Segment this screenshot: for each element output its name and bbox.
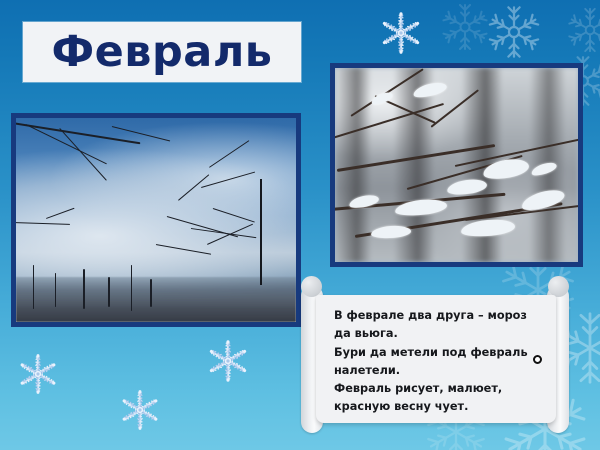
- photo-winter-sky: [11, 113, 301, 327]
- photo-snowy-branches: [330, 63, 583, 267]
- scroll-knob-left: [301, 276, 322, 297]
- crystal-snowflake-bottom-left: [15, 351, 61, 397]
- scroll-dot-icon: [533, 355, 542, 364]
- page-title: Февраль: [23, 22, 301, 82]
- crystal-snowflake-bottom-mid: [117, 387, 163, 433]
- line-snowflake-top-right: [486, 4, 542, 60]
- line-snowflake-top-mid: [440, 2, 490, 52]
- proverb-text: В феврале два друга – мороз да вьюга. Бу…: [334, 307, 544, 417]
- proverb-scroll: В феврале два друга – мороз да вьюга. Бу…: [301, 285, 569, 433]
- slide-canvas: Февраль: [0, 0, 600, 450]
- crystal-snowflake-top: [377, 9, 425, 57]
- photo-snowy-branches-content: [335, 68, 578, 262]
- scroll-sheet: В феврале два друга – мороз да вьюга. Бу…: [316, 295, 556, 423]
- crystal-snowflake-bottom-right: [204, 337, 252, 385]
- snowy-ground: [16, 277, 296, 322]
- line-snowflake-top-far-right: [566, 6, 600, 54]
- page-title-text: Февраль: [52, 31, 273, 74]
- photo-winter-sky-content: [16, 118, 296, 322]
- scroll-knob-right: [548, 276, 569, 297]
